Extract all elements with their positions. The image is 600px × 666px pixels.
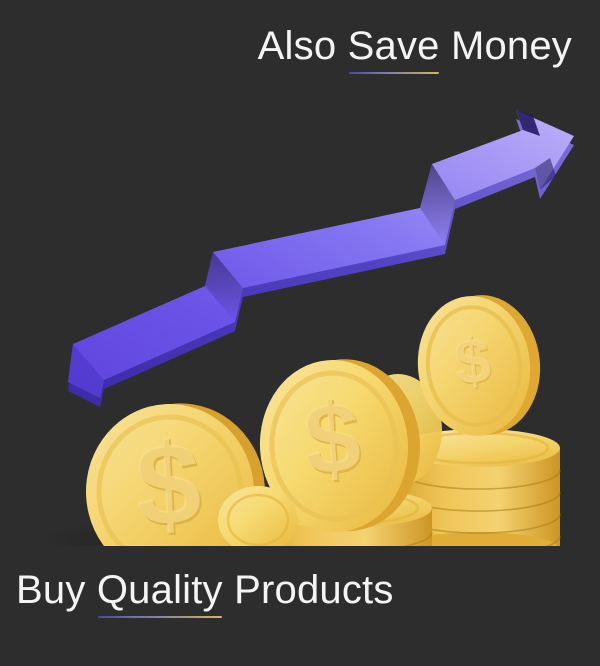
poster-canvas: $ $ $ $ [0,0,600,666]
dollar-sign-emboss: $ $ [451,323,496,400]
upward-zigzag-arrow [68,110,574,407]
headline-top-word-save: Save [348,24,440,69]
svg-text:$: $ [451,323,494,398]
coin-partial-right [354,374,442,486]
headline-bottom: Buy Quality Products [16,568,394,613]
headline-top-word-3: Money [451,24,572,69]
svg-text:$: $ [452,325,495,400]
coin-middle-standing: $ $ [254,354,426,537]
headline-top: Also Save Money [258,24,572,69]
headline-bottom-word-3: Products [234,568,393,613]
svg-text:$: $ [300,381,364,497]
headline-bottom-word-1: Buy [16,568,86,613]
svg-text:$: $ [302,383,366,499]
coin-right-standing: $ $ [411,289,547,441]
coin-stack-right [398,429,560,568]
dollar-sign-emboss: $ $ [300,381,366,499]
gold-coin-group: $ $ $ $ [40,289,560,584]
coin-stack-middle [256,488,432,552]
coin-partial-bottom [218,486,298,554]
svg-text:$: $ [132,416,204,550]
headline-top-word-1: Also [258,24,337,69]
headline-bottom-word-quality: Quality [97,568,223,613]
coin-front-left: $ $ [82,399,270,584]
illustration-rising-arrow-with-gold-coins: $ $ $ $ [0,0,600,666]
svg-text:$: $ [134,419,206,553]
dollar-sign-emboss: $ $ [132,416,206,553]
